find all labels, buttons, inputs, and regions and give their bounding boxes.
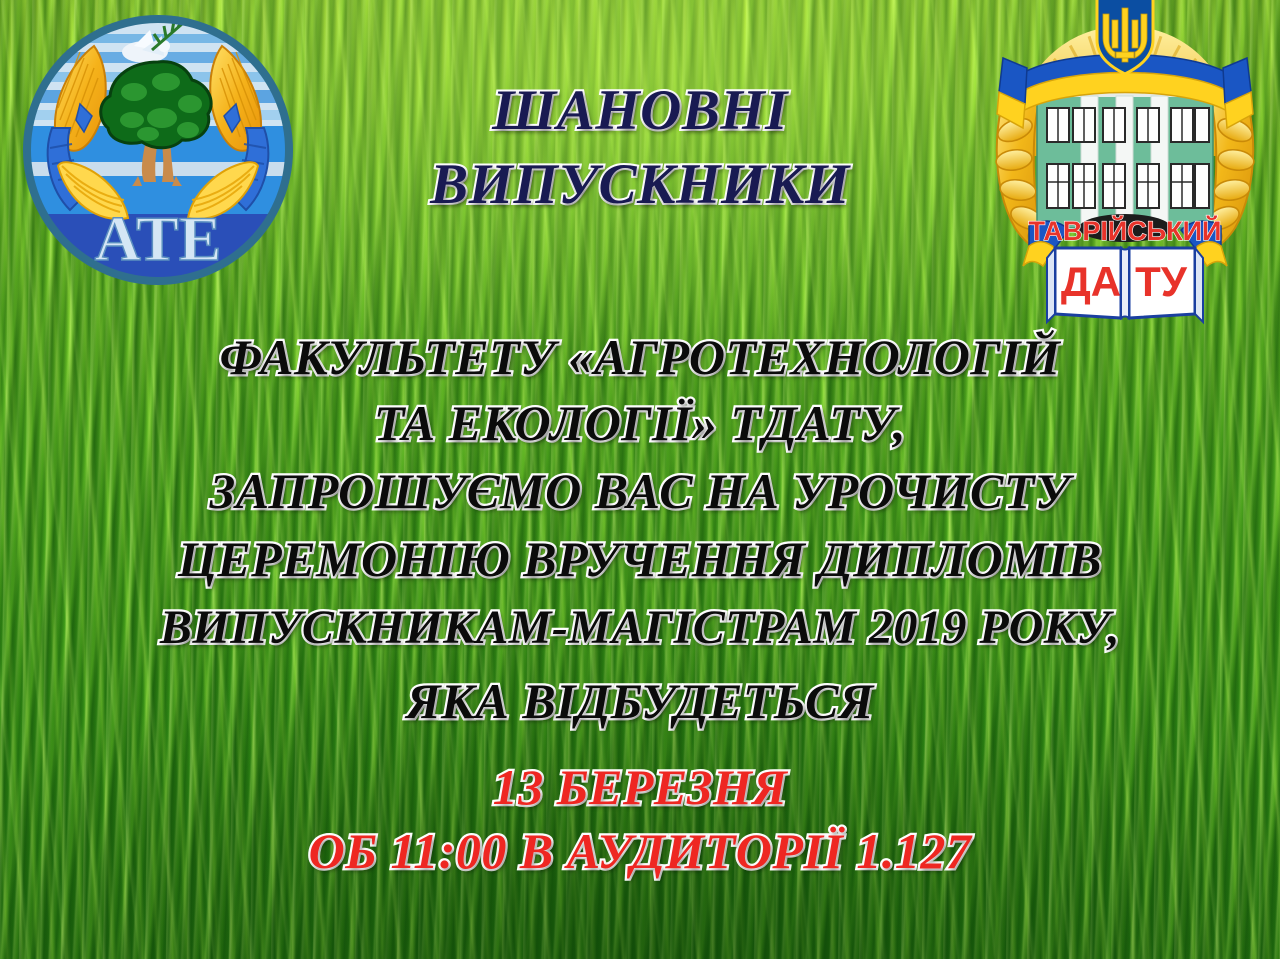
accent-line-time-room: ОБ 11:00 В АУДИТОРІЇ 1.127 xyxy=(0,822,1280,880)
body-line-1: ФАКУЛЬТЕТУ «АГРОТЕХНОЛОГІЙ xyxy=(0,328,1280,386)
accent-line-date: 13 БЕРЕЗНЯ xyxy=(0,758,1280,816)
body-line-2: ТА ЕКОЛОГІЇ» ТДАТУ, xyxy=(0,394,1280,452)
body-line-5: ВИПУСКНИКАМ-МАГІСТРАМ 2019 РОКУ, xyxy=(0,600,1280,655)
heading-line-2: ВИПУСКНИКИ xyxy=(0,152,1280,217)
heading-line-1: ШАНОВНІ xyxy=(0,78,1280,143)
body-line-3: ЗАПРОШУЄМО ВАС НА УРОЧИСТУ xyxy=(0,462,1280,520)
poster-text-block: ШАНОВНІ ВИПУСКНИКИ ФАКУЛЬТЕТУ «АГРОТЕХНО… xyxy=(0,0,1280,959)
body-line-6: ЯКА ВІДБУДЕТЬСЯ xyxy=(0,672,1280,730)
body-line-4: ЦЕРЕМОНІЮ ВРУЧЕННЯ ДИПЛОМІВ xyxy=(0,530,1280,588)
poster-canvas: ATE xyxy=(0,0,1280,959)
